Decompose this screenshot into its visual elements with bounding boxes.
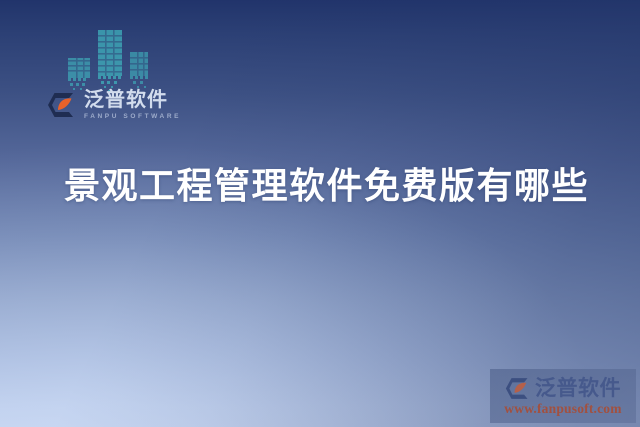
fanpu-hexagon-swoosh-logo-icon xyxy=(47,92,77,118)
watermark-url: www.fanpusoft.com xyxy=(504,401,621,417)
brand-text: 泛普软件 FANPU SOFTWARE xyxy=(84,90,181,120)
page-title: 景观工程管理软件免费版有哪些 xyxy=(64,163,589,208)
watermark-logo-row: 泛普软件 xyxy=(505,377,621,400)
pixel-building-skyline-icon xyxy=(60,26,160,94)
brand-name-cn: 泛普软件 xyxy=(84,90,181,111)
fanpu-hexagon-swoosh-logo-icon xyxy=(505,377,531,400)
watermark-brand-name: 泛普软件 xyxy=(535,378,621,399)
brand-name-en: FANPU SOFTWARE xyxy=(84,113,181,120)
brand-logo: 泛普软件 FANPU SOFTWARE xyxy=(47,90,181,120)
promo-banner: 泛普软件 FANPU SOFTWARE 景观工程管理软件免费版有哪些 泛普软件 … xyxy=(0,0,640,427)
watermark: 泛普软件 www.fanpusoft.com xyxy=(490,369,636,423)
